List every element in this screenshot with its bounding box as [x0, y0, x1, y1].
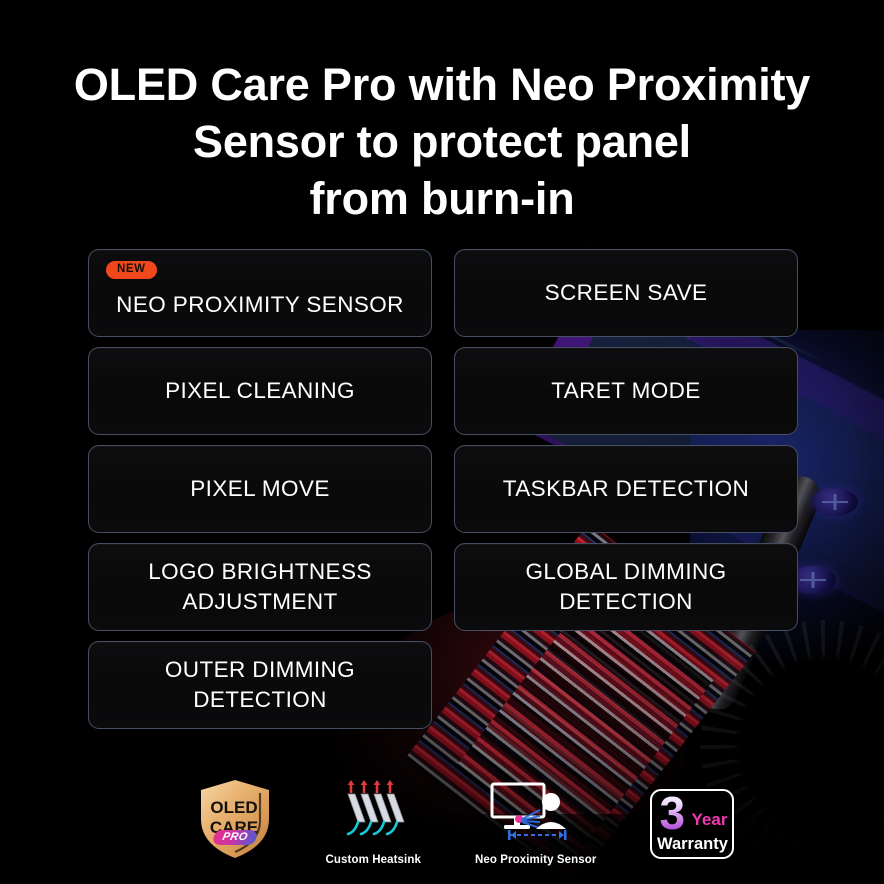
new-badge: NEW: [106, 261, 157, 279]
feature-card-label: NEO PROXIMITY SENSOR: [116, 290, 404, 320]
badge-oled-care-pro: OLED CARE PRO: [198, 779, 272, 866]
promo-graphic: OLED Care Pro with Neo Proximity Sensor …: [0, 0, 884, 884]
feature-card-label: PIXEL MOVE: [190, 474, 329, 504]
feature-card-logo-brightness-adjustment[interactable]: LOGO BRIGHTNESS ADJUSTMENT: [88, 543, 432, 631]
feature-card-taskbar-detection[interactable]: TASKBAR DETECTION: [454, 445, 798, 533]
warranty-year-label: Year: [692, 811, 728, 828]
warranty-number: 3: [659, 790, 685, 836]
feature-card-neo-proximity-sensor[interactable]: NEW NEO PROXIMITY SENSOR: [88, 249, 432, 337]
badge-warranty: 3 Year Warranty: [650, 789, 734, 866]
feature-card-label: TARET MODE: [551, 376, 700, 406]
headline: OLED Care Pro with Neo Proximity Sensor …: [0, 56, 884, 227]
svg-text:OLED: OLED: [210, 798, 257, 817]
warranty-badge-icon: 3 Year Warranty: [650, 789, 734, 859]
feature-card-pixel-move[interactable]: PIXEL MOVE: [88, 445, 432, 533]
feature-card-label: PIXEL CLEANING: [165, 376, 355, 406]
feature-card-label: GLOBAL DIMMING DETECTION: [465, 557, 787, 617]
oled-care-shield-icon: OLED CARE PRO: [198, 779, 272, 859]
feature-card-outer-dimming-detection[interactable]: OUTER DIMMING DETECTION: [88, 641, 432, 729]
badge-neo-proximity-sensor: Neo Proximity Sensor: [475, 780, 597, 866]
headline-line-3: from burn-in: [24, 170, 860, 227]
proximity-sensor-icon: [488, 780, 584, 847]
pro-pill-label: PRO: [212, 830, 258, 845]
feature-card-screen-save[interactable]: SCREEN SAVE: [454, 249, 798, 337]
badge-row: OLED CARE PRO: [0, 779, 884, 866]
feature-card-label: TASKBAR DETECTION: [503, 474, 749, 504]
badge-caption: Neo Proximity Sensor: [475, 854, 597, 866]
badge-caption: Custom Heatsink: [326, 854, 421, 866]
feature-card-taret-mode[interactable]: TARET MODE: [454, 347, 798, 435]
badge-custom-heatsink: Custom Heatsink: [326, 780, 421, 866]
feature-card-pixel-cleaning[interactable]: PIXEL CLEANING: [88, 347, 432, 435]
heatsink-icon: [338, 780, 408, 847]
feature-grid: NEW NEO PROXIMITY SENSOR SCREEN SAVE PIX…: [88, 249, 798, 729]
feature-card-label: LOGO BRIGHTNESS ADJUSTMENT: [99, 557, 421, 617]
feature-card-label: SCREEN SAVE: [545, 278, 708, 308]
feature-card-global-dimming-detection[interactable]: GLOBAL DIMMING DETECTION: [454, 543, 798, 631]
feature-card-label: OUTER DIMMING DETECTION: [99, 655, 421, 715]
headline-line-2: Sensor to protect panel: [24, 113, 860, 170]
warranty-word-label: Warranty: [652, 836, 732, 853]
headline-line-1: OLED Care Pro with Neo Proximity: [24, 56, 860, 113]
